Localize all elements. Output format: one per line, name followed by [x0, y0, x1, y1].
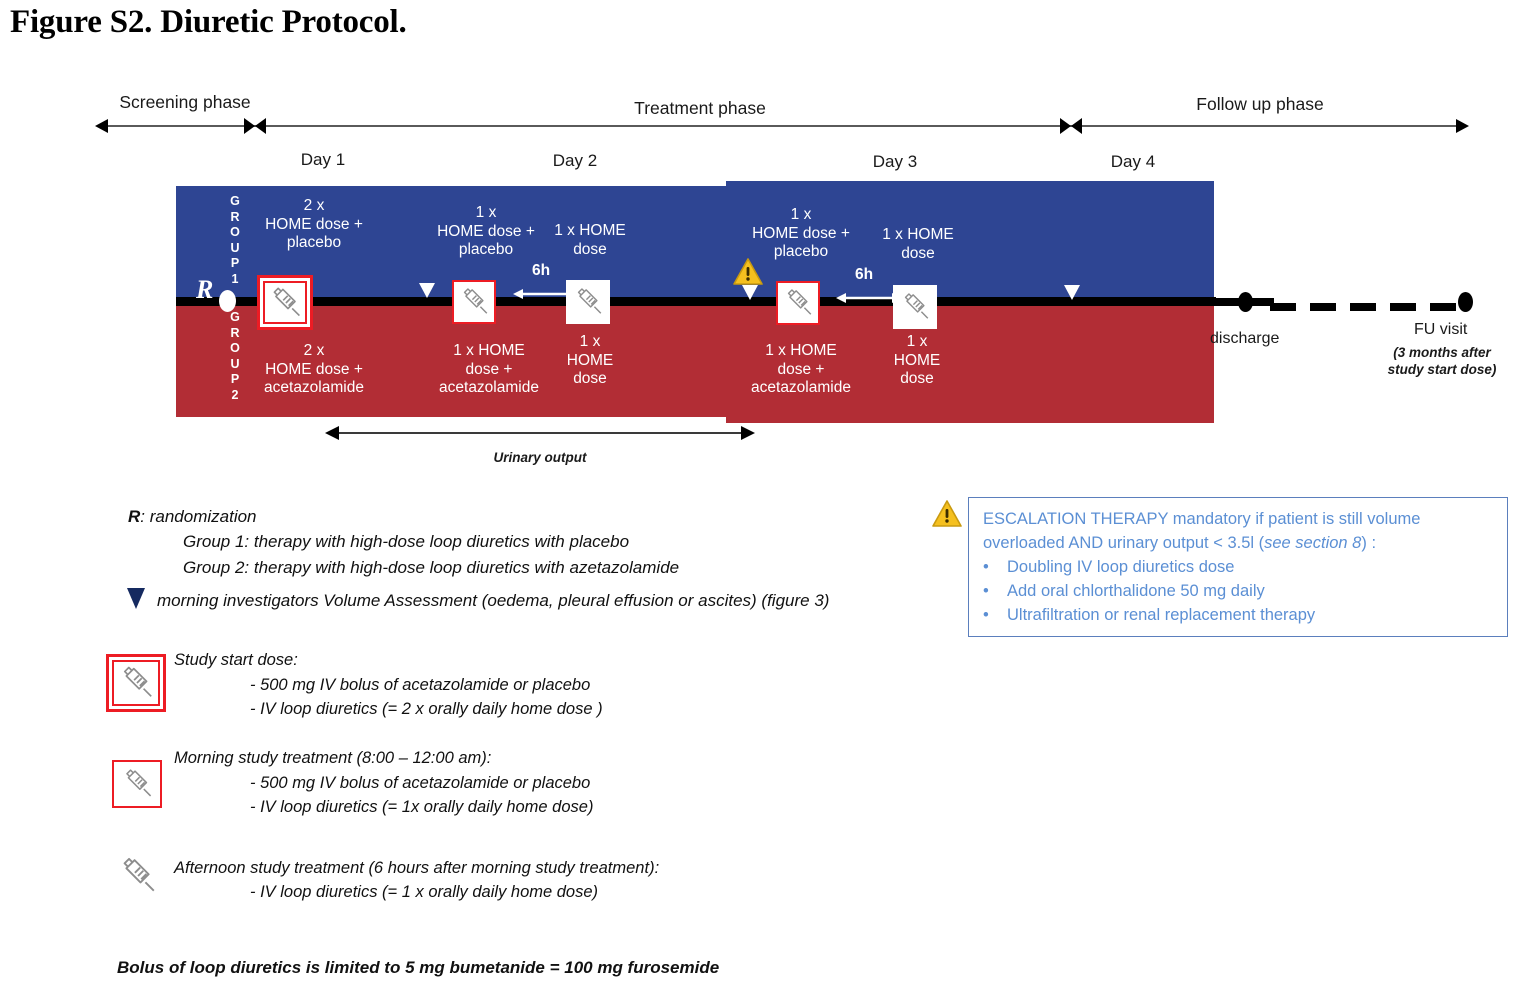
- escalation-therapy-box: ESCALATION THERAPY mandatory if patient …: [968, 497, 1508, 637]
- legend-item-morning-icon: [112, 760, 162, 808]
- legend-randomization-text: : randomization: [140, 507, 256, 526]
- legend-randomization: R: randomization: [128, 505, 257, 529]
- volume-assessment-marker-day4-icon: [1064, 285, 1080, 300]
- legend-footnote: Bolus of loop diuretics is limited to 5 …: [117, 958, 719, 978]
- syringe-icon: [120, 767, 154, 801]
- fu-visit-dot-icon: [1458, 292, 1473, 312]
- escalation-bullet-1-label: Doubling IV loop diuretics dose: [1007, 555, 1234, 579]
- syringe-icon: [116, 855, 158, 897]
- escalation-intro-line-2: overloaded AND urinary output < 3.5l (se…: [983, 531, 1493, 555]
- escalation-bullet-3-label: Ultrafiltration or renal replacement the…: [1007, 603, 1315, 627]
- legend-item-study-start-title: Study start dose:: [174, 648, 298, 672]
- escalation-intro-line-2-b: ) :: [1361, 534, 1376, 552]
- legend-item-study-start-line-2: - IV loop diuretics (= 2 x orally daily …: [250, 697, 603, 721]
- legend-randomization-key: R: [128, 507, 140, 526]
- legend-block: R: randomization Group 1: therapy with h…: [0, 0, 960, 1003]
- escalation-section-ref: see section 8: [1264, 534, 1361, 552]
- fu-visit-label: FU visit: [1414, 321, 1467, 339]
- legend-group2-line: Group 2: therapy with high-dose loop diu…: [183, 556, 679, 580]
- discharge-label: discharge: [1210, 330, 1279, 348]
- escalation-intro-line-1: ESCALATION THERAPY mandatory if patient …: [983, 507, 1493, 531]
- legend-item-afternoon-line-1: - IV loop diuretics (= 1 x orally daily …: [250, 880, 598, 904]
- escalation-bullet-3: • Ultrafiltration or renal replacement t…: [983, 603, 1493, 627]
- syringe-icon: [117, 664, 155, 702]
- legend-item-afternoon-title: Afternoon study treatment (6 hours after…: [174, 856, 659, 880]
- escalation-bullet-2-label: Add oral chlorthalidone 50 mg daily: [1007, 579, 1265, 603]
- legend-item-morning-title: Morning study treatment (8:00 – 12:00 am…: [174, 746, 491, 770]
- followup-dashed-line: [1270, 298, 1470, 306]
- legend-assessment-line: morning investigators Volume Assessment …: [157, 589, 829, 613]
- discharge-dot-icon: [1238, 292, 1253, 312]
- bullet-dot-icon: •: [983, 555, 1007, 579]
- volume-assessment-legend-icon: [127, 588, 145, 609]
- legend-item-afternoon-icon: [112, 852, 162, 900]
- fu-visit-note: (3 months after study start dose): [1352, 344, 1532, 378]
- legend-item-morning-line-2: - IV loop diuretics (= 1x orally daily h…: [250, 795, 593, 819]
- legend-item-study-start-line-1: - 500 mg IV bolus of acetazolamide or pl…: [250, 673, 590, 697]
- bullet-dot-icon: •: [983, 579, 1007, 603]
- escalation-intro-line-2-a: overloaded AND urinary output < 3.5l (: [983, 534, 1264, 552]
- legend-group1-line: Group 1: therapy with high-dose loop diu…: [183, 530, 629, 554]
- escalation-bullet-1: • Doubling IV loop diuretics dose: [983, 555, 1493, 579]
- legend-item-morning-line-1: - 500 mg IV bolus of acetazolamide or pl…: [250, 771, 590, 795]
- escalation-warning-icon: [932, 500, 962, 527]
- bullet-dot-icon: •: [983, 603, 1007, 627]
- escalation-bullet-2: • Add oral chlorthalidone 50 mg daily: [983, 579, 1493, 603]
- legend-item-study-start-icon: [106, 654, 166, 712]
